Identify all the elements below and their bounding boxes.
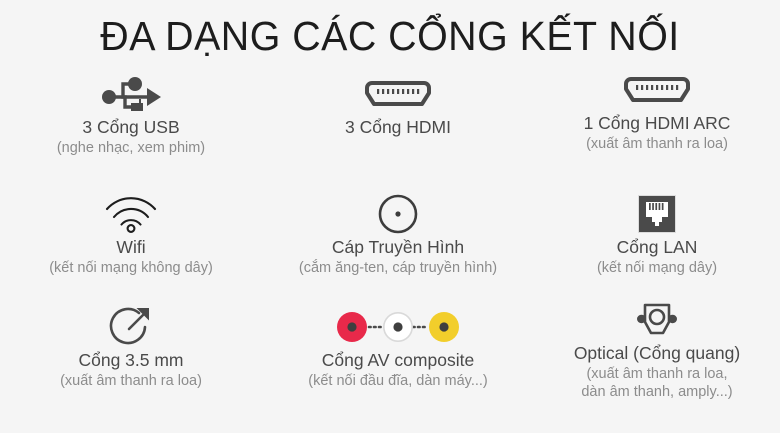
port-item-av-composite: Cổng AV composite (kết nối đầu đĩa, dàn … [262,305,534,391]
port-subtitle: (xuất âm thanh ra loa, [534,365,780,383]
port-label: Optical (Cổng quang) [534,342,780,365]
port-subtitle: (kết nối mạng không dây) [0,259,262,278]
port-label: Cổng LAN [534,236,780,259]
av-composite-icon [262,305,534,349]
connectivity-infographic: ĐA DẠNG CÁC CỔNG KẾT NỐI [0,0,780,433]
port-subtitle: (xuất âm thanh ra loa) [534,135,780,154]
port-item-coaxial: Cáp Truyền Hình (cắm ăng-ten, cáp truyền… [262,192,534,278]
port-label: 3 Cổng USB [0,116,262,139]
ports-grid: 3 Cổng USB (nghe nhạc, xem phim) [0,72,780,433]
port-subtitle-line2: dàn âm thanh, amply...) [534,383,780,401]
port-item-audio-jack: Cổng 3.5 mm (xuất âm thanh ra loa) [0,305,262,391]
hdmi-port-icon [262,72,534,116]
wifi-icon [0,192,262,236]
port-label: 3 Cổng HDMI [262,116,534,139]
hdmi-arc-port-icon [534,68,780,112]
coaxial-cable-icon [262,192,534,236]
port-label: Cổng AV composite [262,349,534,372]
port-label: Cổng 3.5 mm [0,349,262,372]
port-label: Wifi [0,236,262,259]
port-subtitle: (xuất âm thanh ra loa) [0,372,262,391]
optical-port-icon [534,298,780,342]
port-label: 1 Cổng HDMI ARC [534,112,780,135]
port-subtitle: (kết nối đầu đĩa, dàn máy...) [262,372,534,391]
port-item-hdmi-arc: 1 Cổng HDMI ARC (xuất âm thanh ra loa) [534,68,780,154]
port-item-wifi: Wifi (kết nối mạng không dây) [0,192,262,278]
lan-port-icon [534,192,780,236]
page-title: ĐA DẠNG CÁC CỔNG KẾT NỐI [16,10,765,62]
port-subtitle: (cắm ăng-ten, cáp truyền hình) [262,259,534,278]
port-item-lan: Cổng LAN (kết nối mạng dây) [534,192,780,278]
port-subtitle: (kết nối mạng dây) [534,259,780,278]
usb-icon [0,72,262,116]
port-label: Cáp Truyền Hình [262,236,534,259]
port-subtitle: (nghe nhạc, xem phim) [0,139,262,158]
headphone-jack-icon [0,305,262,349]
port-item-usb: 3 Cổng USB (nghe nhạc, xem phim) [0,72,262,158]
port-item-hdmi: 3 Cổng HDMI [262,72,534,139]
port-item-optical: Optical (Cổng quang) (xuất âm thanh ra l… [534,298,780,401]
